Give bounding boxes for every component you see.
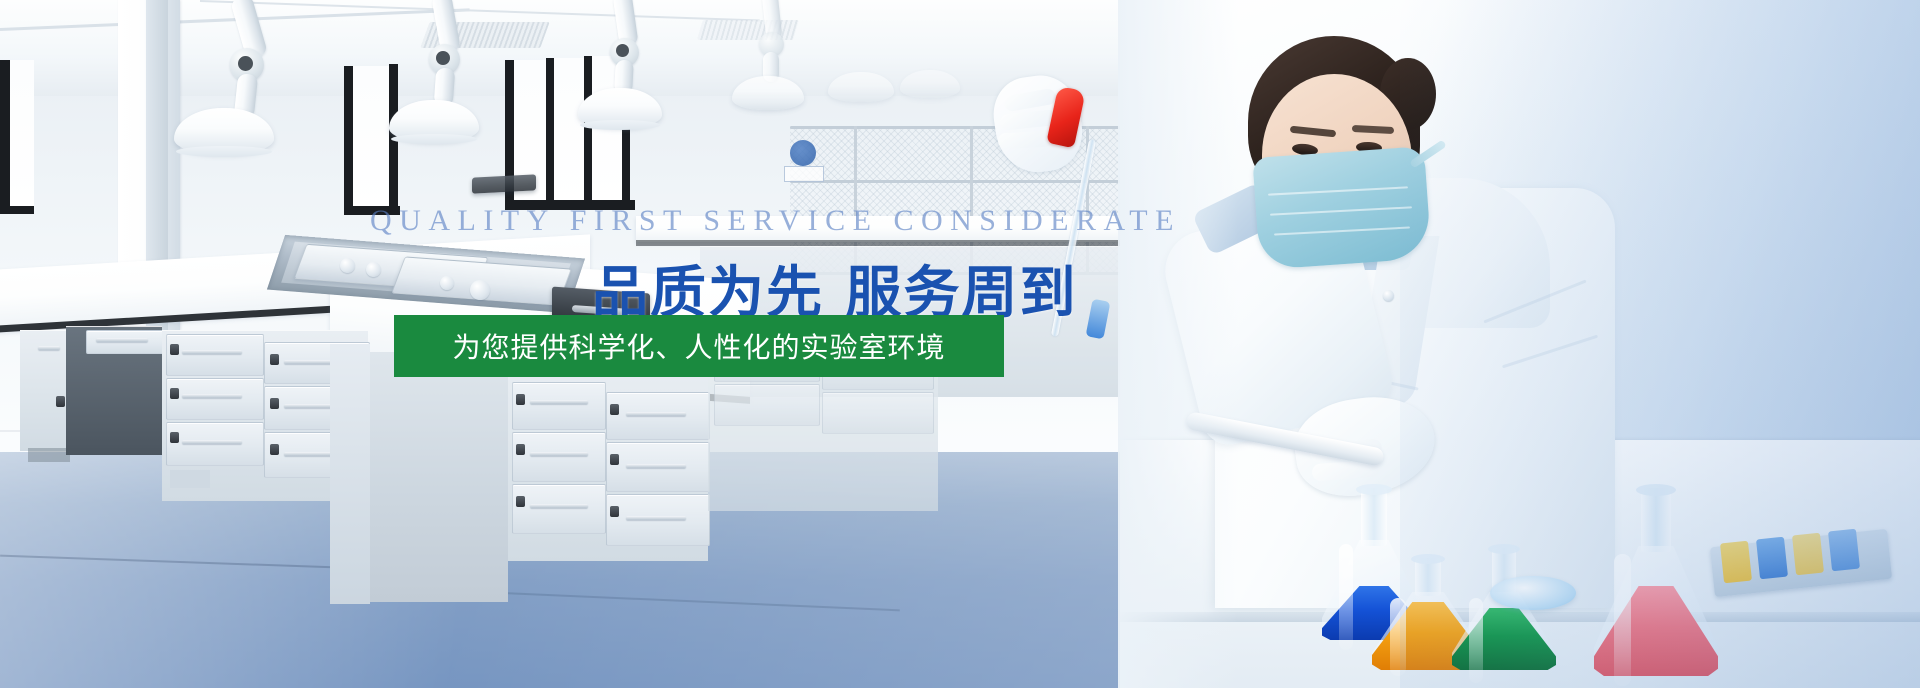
text-overlay: QUALITY FIRST SERVICE CONSIDERATE 品质为先 服… — [0, 0, 1920, 688]
subtitle-banner-text: 为您提供科学化、人性化的实验室环境 — [452, 326, 945, 366]
english-tagline: QUALITY FIRST SERVICE CONSIDERATE — [370, 204, 1181, 238]
subtitle-banner: 为您提供科学化、人性化的实验室环境 — [394, 315, 1004, 377]
hero-banner: QUALITY FIRST SERVICE CONSIDERATE 品质为先 服… — [0, 0, 1920, 688]
